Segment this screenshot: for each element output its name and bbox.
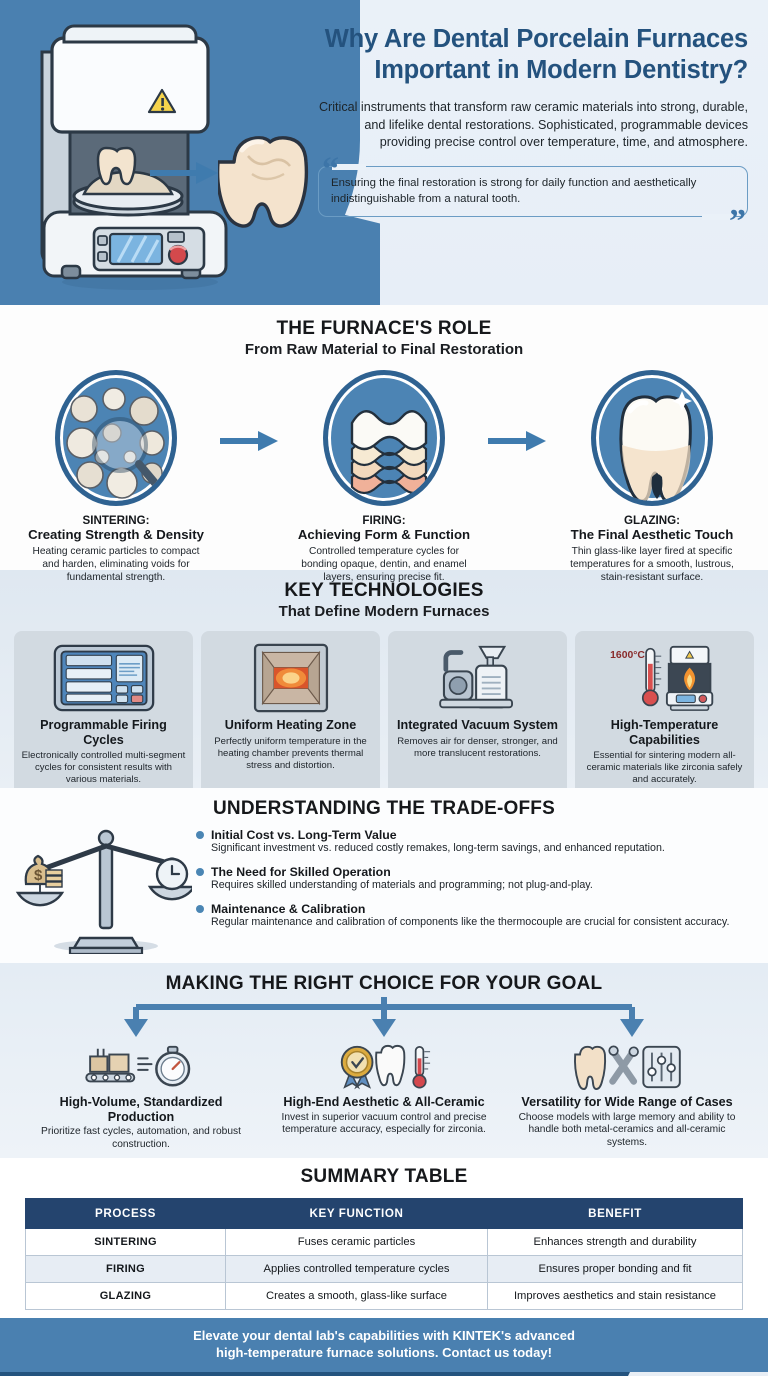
- tech-card-title: Integrated Vacuum System: [395, 718, 560, 733]
- table-cell-function: Creates a smooth, glass-like surface: [226, 1283, 488, 1310]
- bullet-icon: [196, 868, 204, 876]
- header-subtitle: Critical instruments that transform raw …: [318, 99, 748, 153]
- tech-card-title: Programmable Firing Cycles: [21, 718, 186, 747]
- logo-plate: [608, 1372, 768, 1376]
- tradeoffs-list: Initial Cost vs. Long-Term Value Signifi…: [192, 826, 750, 954]
- role-step-desc: Thin glass-like layer fired at specific …: [548, 546, 756, 585]
- infographic-page: Why Are Dental Porcelain Furnaces Import…: [0, 0, 768, 1376]
- tech-card-desc: Removes air for denser, stronger, and mo…: [395, 736, 560, 760]
- tradeoffs-body: $ Initial Cost vs. Long-Term Value Signi…: [0, 820, 768, 954]
- choice-option-title: High-End Aesthetic & All-Ceramic: [273, 1095, 496, 1110]
- choice-option-desc: Choose models with large memory and abil…: [516, 1112, 739, 1150]
- vacuum-pump-icon: [395, 640, 560, 716]
- header-text-block: Why Are Dental Porcelain Furnaces Import…: [318, 24, 748, 217]
- key-technologies-section: KEY TECHNOLOGIES That Define Modern Furn…: [0, 570, 768, 788]
- role-section-title: THE FURNACE'S ROLE: [0, 318, 768, 340]
- role-step-firing: FIRING: Achieving Form & Function Contro…: [280, 370, 488, 585]
- summary-section-title: SUMMARY TABLE: [0, 1166, 768, 1188]
- choice-option-desc: Invest in superior vacuum control and pr…: [273, 1112, 496, 1138]
- choice-section-title: MAKING THE RIGHT CHOICE FOR YOUR GOAL: [0, 973, 768, 995]
- choice-option-title: High-Volume, Standardized Production: [30, 1095, 253, 1124]
- tech-card-desc: Electronically controlled multi-segment …: [21, 750, 186, 786]
- tradeoff-desc: Regular maintenance and calibration of c…: [211, 916, 750, 930]
- thermometer-furnace-icon: 1600°C: [582, 640, 747, 716]
- svg-text:$: $: [34, 867, 43, 884]
- role-step-headline: Creating Strength & Density: [12, 527, 220, 543]
- tech-card-vacuum: Integrated Vacuum System Removes air for…: [388, 631, 567, 796]
- role-step-desc: Controlled temperature cycles for bondin…: [280, 546, 488, 585]
- heating-chamber-icon: [208, 640, 373, 716]
- tradeoffs-section: UNDERSTANDING THE TRADE-OFFS $: [0, 788, 768, 963]
- award-tooth-thermometer-icon: [273, 1041, 496, 1093]
- role-step-desc: Heating ceramic particles to compact and…: [12, 546, 220, 585]
- choice-option-versatility: Versatility for Wide Range of Cases Choo…: [506, 1041, 749, 1152]
- quote-block: Ensuring the final restoration is strong…: [318, 166, 748, 217]
- furnace-role-section: THE FURNACE'S ROLE From Raw Material to …: [0, 305, 768, 570]
- role-step-headline: The Final Aesthetic Touch: [548, 527, 756, 543]
- role-step-label: SINTERING:: [12, 514, 220, 527]
- tradeoff-item: The Need for Skilled Operation Requires …: [196, 865, 750, 893]
- role-step-label: FIRING:: [280, 514, 488, 527]
- table-row: GLAZING Creates a smooth, glass-like sur…: [26, 1283, 743, 1310]
- table-cell-process: SINTERING: [26, 1229, 226, 1256]
- tech-section-subtitle: That Define Modern Furnaces: [0, 603, 768, 620]
- role-step-sintering: SINTERING: Creating Strength & Density H…: [12, 370, 220, 585]
- finished-crown-illustration: [218, 128, 318, 233]
- role-step-glazing: GLAZING: The Final Aesthetic Touch Thin …: [548, 370, 756, 585]
- control-panel-icon: [21, 640, 186, 716]
- tech-card-title: High-Temperature Capabilities: [582, 718, 747, 747]
- tech-cards-row: Programmable Firing Cycles Electronicall…: [0, 631, 768, 796]
- temperature-label: 1600°C: [610, 650, 645, 661]
- cta-line-2: high-temperature furnace solutions. Cont…: [193, 1345, 575, 1362]
- tradeoff-heading: The Need for Skilled Operation: [211, 865, 391, 879]
- table-row: FIRING Applies controlled temperature cy…: [26, 1256, 743, 1283]
- tradeoff-desc: Significant investment vs. reduced costl…: [211, 842, 750, 856]
- page-title: Why Are Dental Porcelain Furnaces Import…: [318, 24, 748, 86]
- choice-option-title: Versatility for Wide Range of Cases: [516, 1095, 739, 1110]
- table-col-benefit: BENEFIT: [488, 1199, 743, 1229]
- table-cell-benefit: Enhances strength and durability: [488, 1229, 743, 1256]
- header-section: Why Are Dental Porcelain Furnaces Import…: [0, 0, 768, 305]
- tech-card-desc: Essential for sintering modern all-ceram…: [582, 750, 747, 786]
- tradeoff-heading: Initial Cost vs. Long-Term Value: [211, 828, 397, 842]
- table-cell-benefit: Improves aesthetics and stain resistance: [488, 1283, 743, 1310]
- glossy-tooth-icon: [591, 370, 713, 506]
- tech-card-desc: Perfectly uniform temperature in the hea…: [208, 736, 373, 772]
- ceramic-particles-magnifier-icon: [55, 370, 177, 506]
- balance-scale-icon: $: [14, 826, 192, 954]
- role-step-headline: Achieving Form & Function: [280, 527, 488, 543]
- choice-section: MAKING THE RIGHT CHOICE FOR YOUR GOAL: [0, 963, 768, 1158]
- cta-banner: Elevate your dental lab's capabilities w…: [0, 1318, 768, 1372]
- table-col-process: PROCESS: [26, 1199, 226, 1229]
- summary-table: PROCESS KEY FUNCTION BENEFIT SINTERING F…: [25, 1198, 743, 1310]
- choice-option-aesthetic: High-End Aesthetic & All-Ceramic Invest …: [263, 1041, 506, 1152]
- quote-open-icon: “: [322, 153, 339, 187]
- tech-card-uniform-heating: Uniform Heating Zone Perfectly uniform t…: [201, 631, 380, 796]
- table-cell-function: Applies controlled temperature cycles: [226, 1256, 488, 1283]
- role-step-label: GLAZING:: [548, 514, 756, 527]
- cta-line-1: Elevate your dental lab's capabilities w…: [193, 1328, 575, 1345]
- tradeoff-heading: Maintenance & Calibration: [211, 902, 365, 916]
- choice-branch-connector-icon: [0, 995, 768, 1041]
- table-cell-benefit: Ensures proper bonding and fit: [488, 1256, 743, 1283]
- role-arrow-1-icon: [220, 430, 280, 452]
- table-cell-process: FIRING: [26, 1256, 226, 1283]
- table-header-row: PROCESS KEY FUNCTION BENEFIT: [26, 1199, 743, 1229]
- role-steps-row: SINTERING: Creating Strength & Density H…: [0, 370, 768, 585]
- conveyor-stopwatch-icon: [30, 1041, 253, 1093]
- summary-section: SUMMARY TABLE PROCESS KEY FUNCTION BENEF…: [0, 1158, 768, 1318]
- bullet-icon: [196, 831, 204, 839]
- table-row: SINTERING Fuses ceramic particles Enhanc…: [26, 1229, 743, 1256]
- choice-option-desc: Prioritize fast cycles, automation, and …: [30, 1126, 253, 1152]
- choice-option-high-volume: High-Volume, Standardized Production Pri…: [20, 1041, 263, 1152]
- table-cell-function: Fuses ceramic particles: [226, 1229, 488, 1256]
- role-section-subtitle: From Raw Material to Final Restoration: [0, 341, 768, 358]
- table-col-key-function: KEY FUNCTION: [226, 1199, 488, 1229]
- bullet-icon: [196, 905, 204, 913]
- tradeoff-item: Maintenance & Calibration Regular mainte…: [196, 902, 750, 930]
- tradeoff-desc: Requires skilled understanding of materi…: [211, 879, 750, 893]
- tradeoff-item: Initial Cost vs. Long-Term Value Signifi…: [196, 828, 750, 856]
- choice-options-row: High-Volume, Standardized Production Pri…: [0, 1041, 768, 1152]
- cta-text: Elevate your dental lab's capabilities w…: [193, 1328, 575, 1362]
- table-cell-process: GLAZING: [26, 1283, 226, 1310]
- footer-bar: kintekfurnace.com KINTEK: [0, 1372, 768, 1376]
- tooth-tools-sliders-icon: [516, 1041, 739, 1093]
- tech-card-programmable: Programmable Firing Cycles Electronicall…: [14, 631, 193, 796]
- quote-close-icon: ”: [729, 205, 746, 239]
- tech-card-high-temperature: 1600°C: [575, 631, 754, 796]
- tech-card-title: Uniform Heating Zone: [208, 718, 373, 733]
- quote-text: Ensuring the final restoration is strong…: [318, 166, 748, 217]
- porcelain-layers-icon: [323, 370, 445, 506]
- process-arrow-icon: [150, 160, 220, 186]
- role-arrow-2-icon: [488, 430, 548, 452]
- tradeoffs-section-title: UNDERSTANDING THE TRADE-OFFS: [0, 798, 768, 820]
